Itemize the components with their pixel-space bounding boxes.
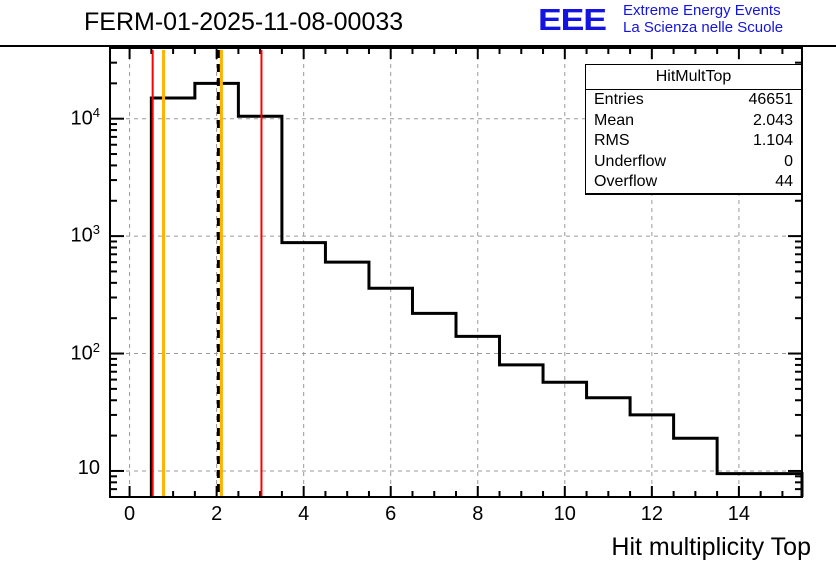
stats-row: RMS1.104	[586, 131, 801, 152]
stats-box-inner: HitMultTop Entries46651Mean2.043RMS1.104…	[585, 64, 802, 194]
stats-row: Overflow44	[586, 172, 801, 193]
stats-row-key: RMS	[594, 131, 630, 152]
stats-row-key: Overflow	[594, 172, 657, 193]
stats-row-value: 1.104	[753, 131, 793, 152]
page-title: FERM-01-2025-11-08-00033	[84, 8, 403, 37]
y-axis-tick-label: 104	[71, 105, 100, 131]
x-axis-tick-label: 6	[361, 503, 421, 526]
stats-row: Mean2.043	[586, 111, 801, 132]
eee-logo-line-2: La Scienza nelle Scuole	[623, 20, 783, 37]
x-axis-tick-label: 0	[100, 503, 160, 526]
stats-row-value: 2.043	[753, 111, 793, 132]
x-axis-tick-label: 10	[535, 503, 595, 526]
stats-histogram-name: HitMultTop	[586, 65, 801, 90]
stats-row-key: Entries	[594, 90, 644, 111]
x-axis-tick-label: 14	[709, 503, 769, 526]
eee-logo: EEE Extreme Energy Events La Scienza nel…	[538, 3, 783, 37]
x-axis-tick-label: 4	[274, 503, 334, 526]
stats-row: Entries46651	[586, 90, 801, 111]
stats-row-key: Mean	[594, 111, 634, 132]
x-axis-tick-label: 2	[187, 503, 247, 526]
x-axis-tick-label: 12	[622, 503, 682, 526]
stats-row-value: 0	[784, 152, 793, 173]
stats-row: Underflow0	[586, 152, 801, 173]
eee-logo-line-1: Extreme Energy Events	[623, 3, 783, 20]
x-axis-title: Hit multiplicity Top	[611, 533, 811, 562]
x-axis-tick-label: 8	[448, 503, 508, 526]
stats-rows: Entries46651Mean2.043RMS1.104Underflow0O…	[586, 90, 801, 193]
stats-row-value: 44	[775, 172, 793, 193]
y-axis-tick-label: 10	[78, 457, 100, 480]
eee-logo-text: Extreme Energy Events La Scienza nelle S…	[623, 3, 783, 37]
y-axis-tick-label: 103	[71, 222, 100, 248]
eee-logo-mark: EEE	[538, 4, 606, 35]
stats-row-key: Underflow	[594, 152, 666, 173]
stats-row-value: 46651	[749, 90, 794, 111]
stats-box: HitMultTop Entries46651Mean2.043RMS1.104…	[585, 64, 802, 195]
y-axis-tick-label: 102	[71, 340, 100, 366]
